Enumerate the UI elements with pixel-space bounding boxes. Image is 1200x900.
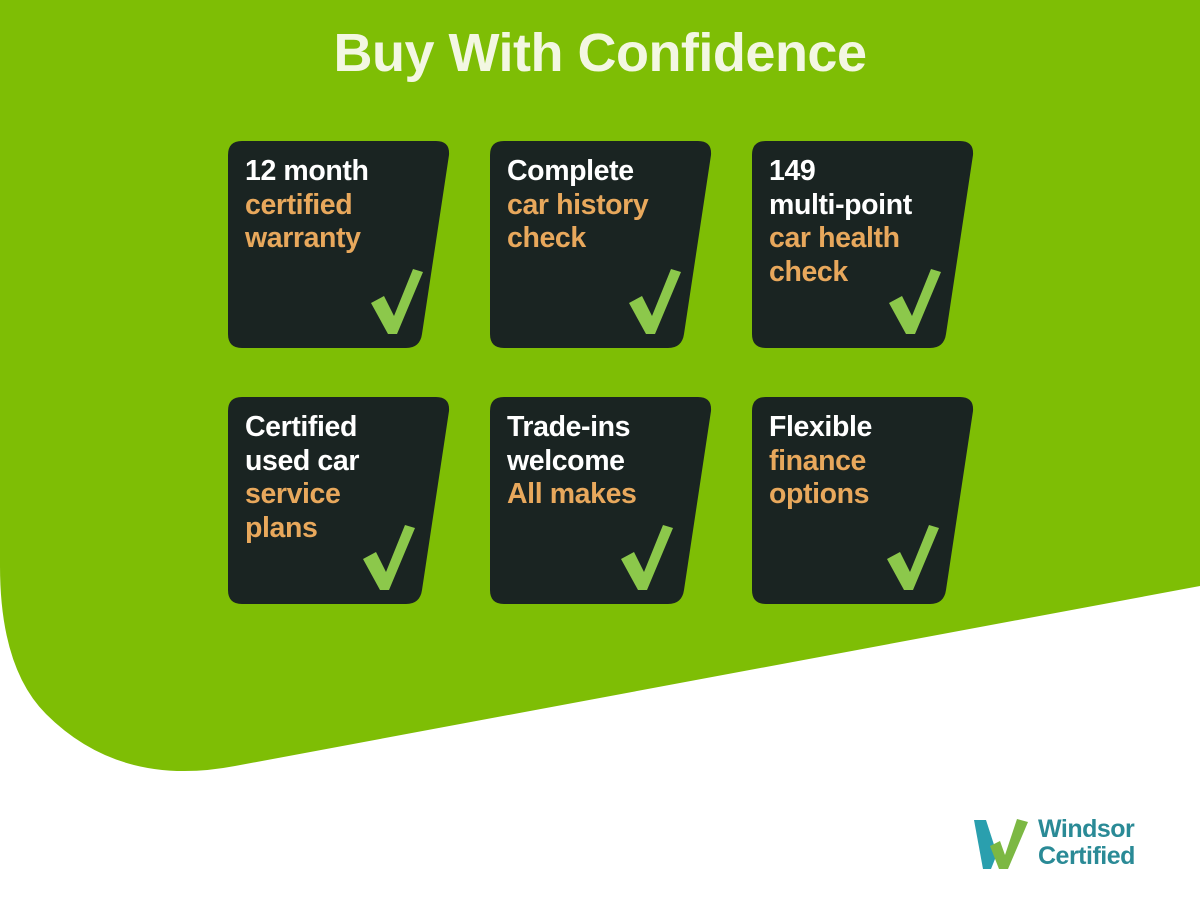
card-line-white-1: welcome <box>507 445 693 479</box>
check-icon <box>360 525 416 591</box>
benefit-card-flexible-finance-options[interactable]: Flexible finance options <box>752 397 974 604</box>
check-icon <box>368 269 424 335</box>
card-line-white-0: Complete <box>507 155 693 189</box>
card-text: 12 month certified warranty <box>245 155 431 256</box>
card-line-accent-0: finance <box>769 445 955 479</box>
benefit-card-trade-ins-welcome[interactable]: Trade-ins welcome All makes <box>490 397 712 604</box>
card-text: Complete car history check <box>507 155 693 256</box>
card-line-white-0: Flexible <box>769 411 955 445</box>
card-line-accent-1: check <box>507 222 693 256</box>
card-line-accent-0: certified <box>245 189 431 223</box>
card-line-white-0: 149 <box>769 155 955 189</box>
logo-line-1: Windsor <box>1038 816 1135 843</box>
card-line-accent-1: options <box>769 478 955 512</box>
benefit-card-multi-point-health-check[interactable]: 149 multi-point car health check <box>752 141 974 348</box>
card-line-accent-0: car health <box>769 222 955 256</box>
check-icon <box>886 269 942 335</box>
card-line-white-0: 12 month <box>245 155 431 189</box>
check-icon <box>884 525 940 591</box>
card-line-white-0: Certified <box>245 411 431 445</box>
card-text: Trade-ins welcome All makes <box>507 411 693 512</box>
logo-line-2: Certified <box>1038 843 1135 870</box>
logo-wordmark: Windsor Certified <box>1038 816 1135 870</box>
benefit-card-certified-used-car-service-plans[interactable]: Certified used car service plans <box>228 397 450 604</box>
card-line-accent-0: car history <box>507 189 693 223</box>
benefit-card-car-history-check[interactable]: Complete car history check <box>490 141 712 348</box>
benefit-card-grid: 12 month certified warranty Complete car… <box>228 141 978 604</box>
check-icon <box>618 525 674 591</box>
benefit-card-certified-warranty[interactable]: 12 month certified warranty <box>228 141 450 348</box>
card-line-white-1: multi-point <box>769 189 955 223</box>
card-line-accent-0: service <box>245 478 431 512</box>
card-text: Flexible finance options <box>769 411 955 512</box>
poster-canvas: Buy With Confidence 12 month certified w… <box>0 0 1200 900</box>
brand-logo[interactable]: Windsor Certified <box>973 812 1165 874</box>
windsor-w-icon <box>973 816 1029 870</box>
card-line-white-0: Trade-ins <box>507 411 693 445</box>
card-line-accent-0: All makes <box>507 478 693 512</box>
card-line-accent-1: warranty <box>245 222 431 256</box>
card-line-white-1: used car <box>245 445 431 479</box>
page-title: Buy With Confidence <box>0 22 1200 84</box>
check-icon <box>626 269 682 335</box>
